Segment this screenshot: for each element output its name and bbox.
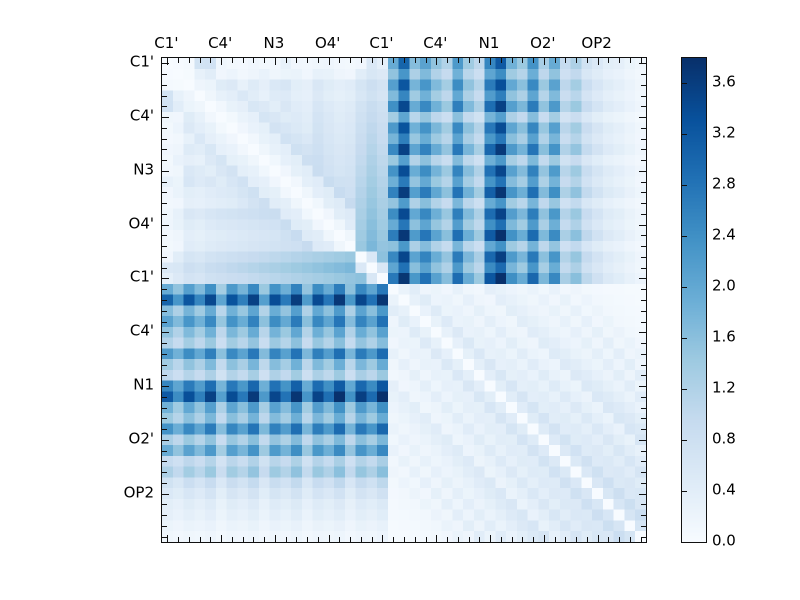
y-tick	[162, 235, 167, 236]
y-tick	[162, 461, 167, 462]
x-tick	[630, 537, 631, 542]
y-tick	[162, 311, 167, 312]
x-tick	[447, 537, 448, 542]
colorbar-tick	[682, 440, 687, 441]
x-tick-label: OP2	[581, 36, 611, 51]
x-tick	[404, 58, 405, 63]
colorbar-tick	[682, 287, 687, 288]
y-tick	[162, 257, 167, 258]
colorbar-tick-label: 3.6	[712, 75, 736, 90]
y-tick	[639, 225, 646, 226]
y-tick-label: C1'	[0, 55, 154, 70]
y-tick	[162, 203, 167, 204]
y-tick	[641, 483, 646, 484]
y-tick	[162, 526, 167, 527]
y-tick	[641, 106, 646, 107]
colorbar-tick-label: 2.8	[712, 177, 736, 192]
x-tick	[436, 58, 437, 65]
x-tick	[501, 537, 502, 542]
y-tick-label: C1'	[0, 270, 154, 285]
y-tick	[162, 300, 167, 301]
y-tick	[162, 160, 167, 161]
y-tick	[641, 311, 646, 312]
colorbar[interactable]	[681, 57, 707, 543]
x-tick	[608, 58, 609, 63]
x-tick	[382, 535, 383, 542]
y-tick	[162, 322, 167, 323]
y-tick	[162, 96, 167, 97]
x-tick	[565, 58, 566, 63]
y-tick-label: C4'	[0, 109, 154, 124]
x-tick	[318, 537, 319, 542]
y-tick-label: N3	[0, 162, 154, 177]
x-tick	[200, 537, 201, 542]
x-tick	[339, 537, 340, 542]
x-tick	[404, 537, 405, 542]
x-tick	[608, 537, 609, 542]
y-tick	[641, 246, 646, 247]
x-tick	[479, 537, 480, 542]
y-tick	[162, 472, 167, 473]
colorbar-tick	[682, 389, 687, 390]
x-tick	[490, 58, 491, 65]
x-tick	[253, 58, 254, 63]
x-tick	[286, 537, 287, 542]
x-tick	[544, 535, 545, 542]
x-tick	[275, 58, 276, 65]
y-tick	[641, 257, 646, 258]
colorbar-tick-label: 3.2	[712, 126, 736, 141]
x-tick	[619, 58, 620, 63]
x-tick	[264, 58, 265, 63]
x-tick	[232, 537, 233, 542]
x-tick-label: C1'	[154, 36, 178, 51]
y-tick	[162, 332, 169, 333]
x-tick	[372, 58, 373, 63]
y-tick	[641, 429, 646, 430]
x-tick	[641, 58, 642, 63]
y-tick	[162, 494, 169, 495]
x-tick	[393, 537, 394, 542]
y-tick	[641, 235, 646, 236]
y-tick	[162, 483, 167, 484]
y-tick	[641, 160, 646, 161]
x-tick	[307, 537, 308, 542]
y-tick	[162, 139, 167, 140]
colorbar-tick	[682, 542, 687, 543]
y-tick	[641, 139, 646, 140]
x-tick	[382, 58, 383, 65]
y-tick	[162, 354, 167, 355]
heatmap-image[interactable]	[162, 58, 646, 542]
x-tick	[501, 58, 502, 63]
y-tick	[162, 289, 167, 290]
x-tick	[415, 58, 416, 63]
colorbar-tick-label: 0.8	[712, 432, 736, 447]
x-tick	[210, 537, 211, 542]
x-tick	[296, 537, 297, 542]
colorbar-tick	[682, 338, 687, 339]
x-tick	[630, 58, 631, 63]
colorbar-tick	[682, 134, 687, 135]
y-tick	[162, 386, 169, 387]
x-tick	[426, 58, 427, 63]
y-tick	[162, 268, 167, 269]
y-tick	[641, 365, 646, 366]
x-tick	[436, 535, 437, 542]
x-tick	[243, 537, 244, 542]
y-tick	[641, 192, 646, 193]
heatmap-axes[interactable]	[161, 57, 647, 543]
y-tick	[162, 537, 167, 538]
y-tick	[162, 128, 167, 129]
y-tick	[641, 96, 646, 97]
x-tick-label: C4'	[423, 36, 447, 51]
y-tick	[641, 418, 646, 419]
x-tick	[189, 537, 190, 542]
colorbar-tick-label: 1.6	[712, 330, 736, 345]
x-tick	[221, 58, 222, 65]
x-tick	[275, 535, 276, 542]
y-tick	[162, 343, 167, 344]
x-tick	[243, 58, 244, 63]
y-tick	[641, 268, 646, 269]
x-tick	[587, 537, 588, 542]
y-tick	[641, 203, 646, 204]
y-tick	[162, 408, 167, 409]
x-tick	[167, 535, 168, 542]
y-tick	[641, 375, 646, 376]
y-tick	[639, 440, 646, 441]
x-tick	[544, 58, 545, 65]
colorbar-tick-label: 0.0	[712, 534, 736, 549]
x-tick	[469, 58, 470, 63]
x-tick	[393, 58, 394, 63]
y-tick	[639, 171, 646, 172]
x-tick	[598, 58, 599, 65]
colorbar-tick-label: 2.4	[712, 228, 736, 243]
x-tick	[512, 537, 513, 542]
colorbar-tick-label: 1.2	[712, 381, 736, 396]
y-tick	[162, 74, 167, 75]
x-tick	[533, 537, 534, 542]
y-tick-label: N1	[0, 378, 154, 393]
y-tick	[641, 214, 646, 215]
y-tick	[641, 515, 646, 516]
y-tick	[162, 451, 167, 452]
colorbar-gradient	[682, 58, 706, 542]
x-tick	[232, 58, 233, 63]
colorbar-tick-label: 2.0	[712, 279, 736, 294]
y-tick	[641, 343, 646, 344]
y-tick-label: O2'	[0, 431, 154, 446]
x-tick	[458, 58, 459, 63]
x-tick	[361, 58, 362, 63]
y-tick	[162, 192, 167, 193]
x-tick	[447, 58, 448, 63]
y-tick	[162, 85, 167, 86]
colorbar-tick	[682, 236, 687, 237]
x-tick-label: C1'	[369, 36, 393, 51]
y-tick	[641, 408, 646, 409]
y-tick	[162, 106, 167, 107]
x-tick	[350, 58, 351, 63]
x-tick	[587, 58, 588, 63]
x-tick	[479, 58, 480, 63]
y-tick	[641, 300, 646, 301]
y-tick	[641, 451, 646, 452]
x-tick	[210, 58, 211, 63]
y-tick	[641, 182, 646, 183]
x-tick	[264, 537, 265, 542]
y-tick	[162, 397, 167, 398]
y-tick-label: OP2	[0, 485, 154, 500]
colorbar-tick	[682, 185, 687, 186]
y-tick	[162, 418, 167, 419]
x-tick	[641, 537, 642, 542]
y-tick	[641, 74, 646, 75]
y-tick	[641, 537, 646, 538]
y-tick	[162, 504, 167, 505]
y-tick	[641, 128, 646, 129]
colorbar-tick	[682, 83, 687, 84]
x-tick	[490, 535, 491, 542]
x-tick	[350, 537, 351, 542]
y-tick	[162, 365, 167, 366]
x-tick	[533, 58, 534, 63]
x-tick	[512, 58, 513, 63]
y-tick	[641, 354, 646, 355]
y-tick	[162, 246, 167, 247]
y-tick	[641, 472, 646, 473]
y-tick	[641, 461, 646, 462]
y-tick	[162, 117, 169, 118]
y-tick	[641, 397, 646, 398]
y-tick	[162, 429, 167, 430]
x-tick	[200, 58, 201, 63]
y-tick	[162, 182, 167, 183]
y-tick	[162, 375, 167, 376]
y-tick	[162, 171, 169, 172]
y-tick	[162, 149, 167, 150]
x-tick	[286, 58, 287, 63]
x-tick	[253, 537, 254, 542]
y-tick	[162, 440, 169, 441]
x-tick-label: N1	[479, 36, 500, 51]
colorbar-tick-label: 0.4	[712, 483, 736, 498]
y-tick	[162, 515, 167, 516]
y-tick	[639, 332, 646, 333]
x-tick	[361, 537, 362, 542]
y-tick	[639, 494, 646, 495]
y-tick	[641, 85, 646, 86]
y-tick	[162, 225, 169, 226]
x-tick-label: N3	[264, 36, 285, 51]
x-tick	[565, 537, 566, 542]
x-tick	[576, 58, 577, 63]
y-tick	[641, 322, 646, 323]
x-tick	[598, 535, 599, 542]
y-tick	[639, 278, 646, 279]
x-tick	[296, 58, 297, 63]
y-tick	[641, 289, 646, 290]
x-tick	[339, 58, 340, 63]
x-tick	[178, 537, 179, 542]
x-tick	[415, 537, 416, 542]
x-tick	[619, 537, 620, 542]
y-tick	[639, 117, 646, 118]
x-tick-label: O2'	[530, 36, 555, 51]
x-tick	[307, 58, 308, 63]
x-tick	[318, 58, 319, 63]
y-tick	[639, 386, 646, 387]
x-tick	[469, 537, 470, 542]
y-tick	[162, 214, 167, 215]
y-tick	[639, 63, 646, 64]
y-tick	[641, 526, 646, 527]
x-tick	[576, 537, 577, 542]
x-tick-label: O4'	[315, 36, 340, 51]
x-tick	[329, 535, 330, 542]
x-tick	[178, 58, 179, 63]
matplotlib-figure: C1'C4'N3O4'C1'C4'N1O2'OP2 C1'C4'N3O4'C1'…	[0, 0, 800, 600]
x-tick	[522, 58, 523, 63]
x-tick	[555, 537, 556, 542]
y-tick	[162, 278, 169, 279]
y-tick	[162, 63, 169, 64]
x-tick	[329, 58, 330, 65]
x-tick	[458, 537, 459, 542]
colorbar-tick	[682, 491, 687, 492]
y-tick-label: O4'	[0, 216, 154, 231]
x-tick	[372, 537, 373, 542]
y-tick-label: C4'	[0, 324, 154, 339]
y-tick	[641, 504, 646, 505]
x-tick	[426, 537, 427, 542]
x-tick-label: C4'	[208, 36, 232, 51]
x-tick	[221, 535, 222, 542]
x-tick	[522, 537, 523, 542]
x-tick	[189, 58, 190, 63]
x-tick	[555, 58, 556, 63]
y-tick	[641, 149, 646, 150]
